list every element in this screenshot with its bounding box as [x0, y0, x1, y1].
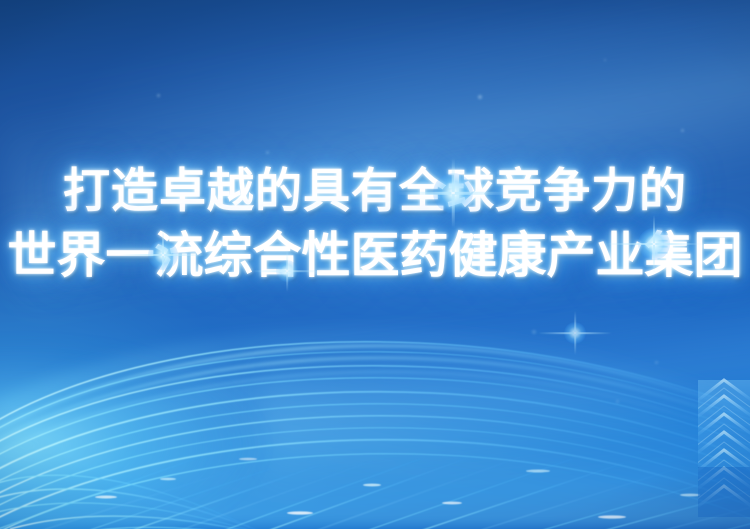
chevron-emblem-svg [698, 372, 750, 517]
particle-dot [681, 129, 684, 132]
headline-line-2: 世界一流综合性医药健康产业集团 [0, 231, 750, 280]
headline-line-1: 打造卓越的具有全球竞争力的 [0, 168, 750, 215]
hero-banner: 打造卓越的具有全球竞争力的 世界一流综合性医药健康产业集团 [0, 0, 750, 529]
particle-dot [157, 94, 160, 97]
particle-dot [604, 59, 606, 61]
wave-left-hotspot [0, 319, 520, 529]
particle-dot [616, 400, 619, 403]
stacked-chevron-emblem [698, 372, 750, 517]
particle-dot [266, 151, 269, 154]
particle-dot [478, 95, 482, 99]
particle-dot [532, 330, 536, 334]
headline-block: 打造卓越的具有全球竞争力的 世界一流综合性医药健康产业集团 [0, 168, 750, 280]
particle-dot [655, 361, 658, 364]
